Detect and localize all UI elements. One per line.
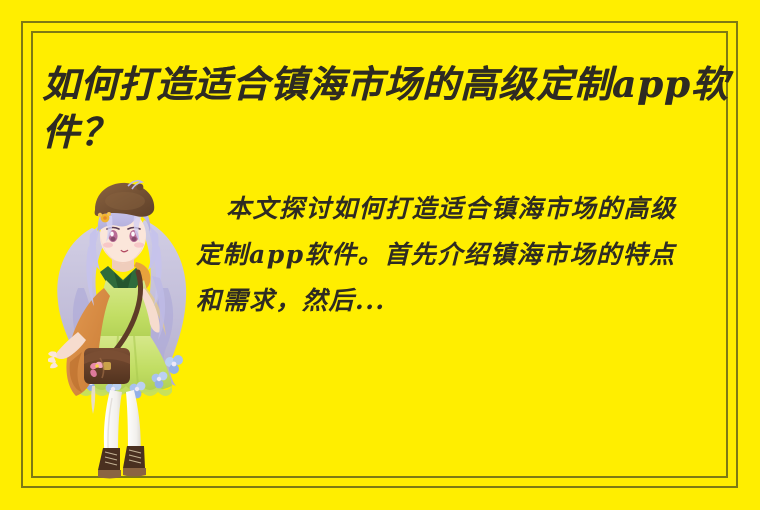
article-title: 如何打造适合镇海市场的高级定制app软 件？ xyxy=(42,60,732,156)
anime-girl-illustration xyxy=(48,176,200,482)
article-title-line-2: 件？ xyxy=(42,108,732,156)
article-summary-line-1: 本文探讨如何打造适合镇海市场的高级 xyxy=(196,186,730,232)
brown-boots xyxy=(98,446,146,479)
shoulder-bag xyxy=(84,348,130,384)
article-title-line-1: 如何打造适合镇海市场的高级定制app软 xyxy=(42,60,732,108)
article-summary-line-3: 和需求，然后... xyxy=(196,278,730,324)
article-summary: 本文探讨如何打造适合镇海市场的高级 定制app软件。首先介绍镇海市场的特点 和需… xyxy=(196,186,730,324)
bag-tassel xyxy=(91,386,95,414)
article-preview-card: 如何打造适合镇海市场的高级定制app软 件？ 本文探讨如何打造适合镇海市场的高级… xyxy=(0,0,760,510)
beret-hat xyxy=(95,183,155,217)
article-summary-line-2: 定制app软件。首先介绍镇海市场的特点 xyxy=(196,232,730,278)
